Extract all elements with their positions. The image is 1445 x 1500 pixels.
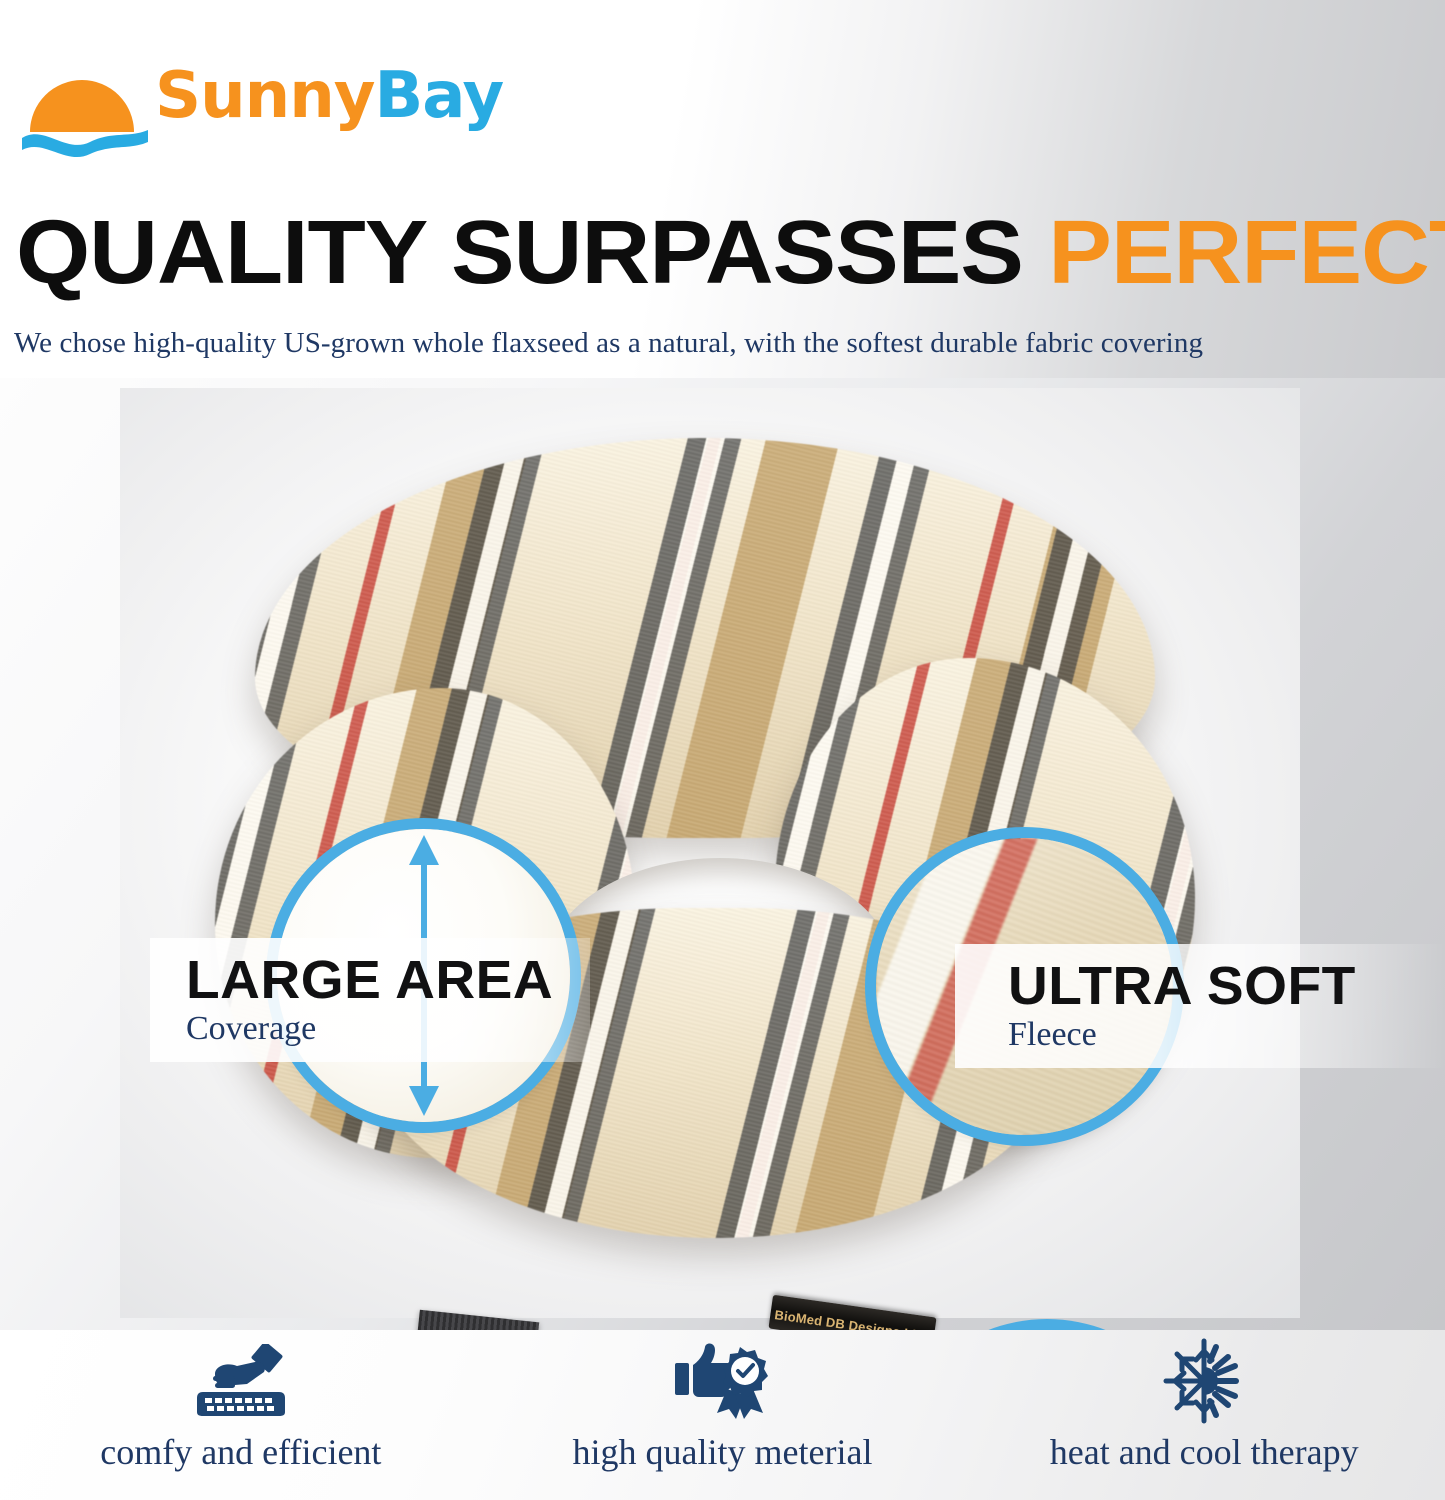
headline-black: QUALITY SURPASSES xyxy=(16,203,1023,303)
headline-orange: PERFECTION xyxy=(1048,203,1445,303)
benefit-therapy: heat and cool therapy xyxy=(963,1330,1445,1500)
brand-name-part1: Sunny xyxy=(155,59,375,133)
product-infographic: SunnyBay QUALITY SURPASSES PERFECTION We… xyxy=(0,0,1445,1500)
page-subheadline: We chose high-quality US-grown whole fla… xyxy=(14,326,1439,360)
arrow-head-down-icon xyxy=(409,1086,439,1116)
arrow-head-up-icon xyxy=(409,835,439,865)
benefit-quality: high quality meterial xyxy=(482,1330,964,1500)
hand-over-keyboard-icon xyxy=(185,1344,297,1418)
snowflake-sun-icon xyxy=(1158,1344,1250,1418)
header-section: SunnyBay QUALITY SURPASSES PERFECTION We… xyxy=(0,0,1445,378)
page-headline: QUALITY SURPASSES PERFECTION xyxy=(16,205,1445,305)
brand-logo: SunnyBay xyxy=(20,58,420,170)
brand-name-part2: Bay xyxy=(375,59,504,133)
sun-wave-icon xyxy=(20,58,155,166)
feature-band-bg-large-area xyxy=(150,938,590,1062)
thumbs-up-award-icon xyxy=(669,1344,777,1418)
benefit-comfy: comfy and efficient xyxy=(0,1330,482,1500)
benefit-caption-comfy: comfy and efficient xyxy=(100,1432,381,1472)
product-photo: BioMed DB Designs LLC xyxy=(0,378,1445,1330)
brand-wordmark: SunnyBay xyxy=(155,64,503,128)
benefits-section: comfy and efficient high quality meteria… xyxy=(0,1330,1445,1500)
benefit-caption-therapy: heat and cool therapy xyxy=(1050,1432,1359,1472)
benefit-caption-quality: high quality meterial xyxy=(573,1432,873,1472)
feature-band-bg-ultra-soft xyxy=(955,944,1445,1068)
product-stage: BioMed DB Designs LLC LARGE AREA xyxy=(0,378,1445,1330)
